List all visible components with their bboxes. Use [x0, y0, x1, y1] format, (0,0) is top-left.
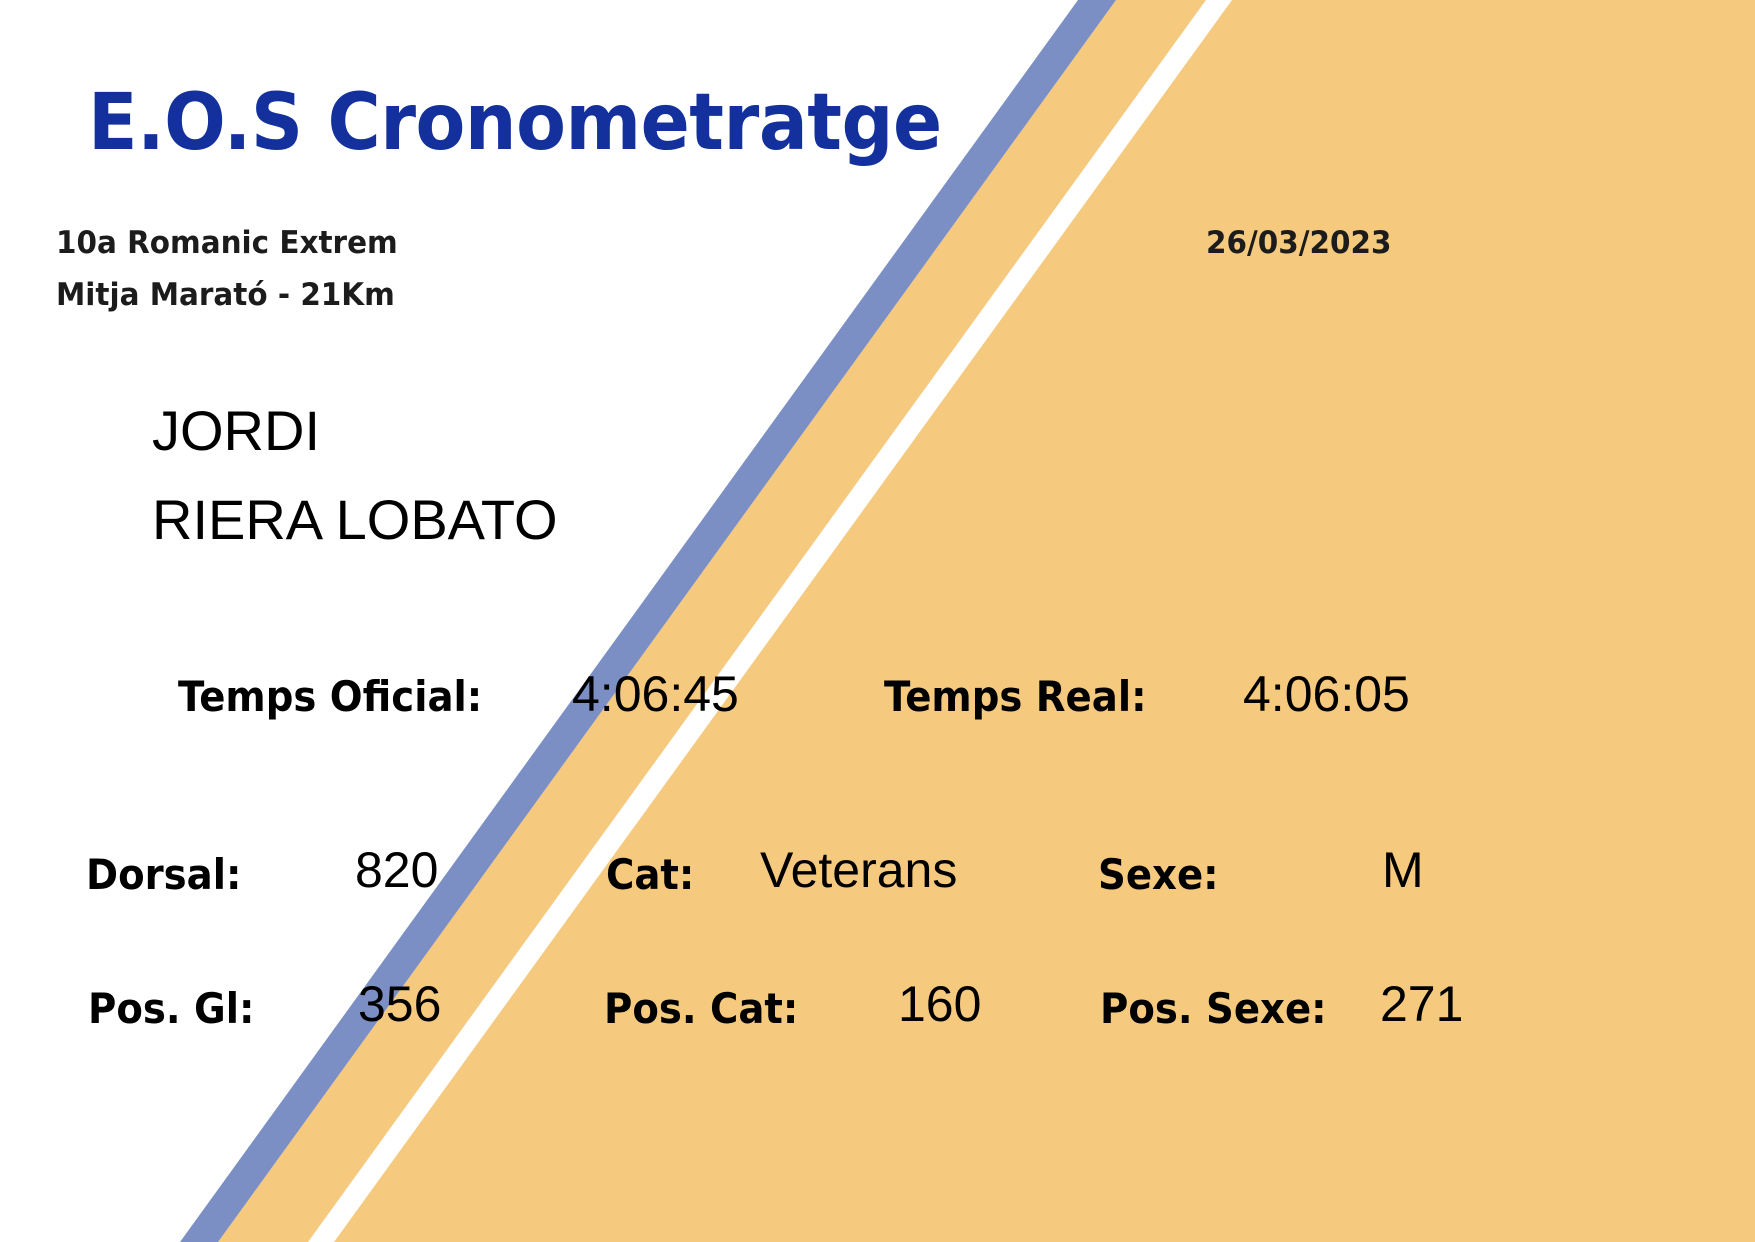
real-time-label: Temps Real:: [884, 672, 1147, 721]
race-result-certificate: E.O.S Cronometratge 10a Romanic Extrem M…: [0, 0, 1755, 1242]
category-value: Veterans: [760, 841, 957, 899]
sex-value: M: [1382, 841, 1424, 899]
event-distance: Mitja Marató - 21Km: [56, 277, 395, 313]
category-label: Cat:: [606, 850, 694, 899]
runner-last-name: RIERA LOBATO: [152, 487, 558, 552]
certificate-content: E.O.S Cronometratge 10a Romanic Extrem M…: [0, 0, 1755, 1242]
category-position-label: Pos. Cat:: [604, 984, 798, 1033]
real-time-value: 4:06:05: [1243, 665, 1410, 723]
official-time-value: 4:06:45: [572, 665, 739, 723]
event-name: 10a Romanic Extrem: [56, 225, 398, 261]
overall-position-value: 356: [358, 975, 441, 1033]
sex-label: Sexe:: [1098, 850, 1219, 899]
event-date: 26/03/2023: [1206, 225, 1391, 261]
dorsal-value: 820: [355, 841, 438, 899]
runner-first-name: JORDI: [152, 398, 320, 463]
sex-position-value: 271: [1380, 975, 1463, 1033]
dorsal-label: Dorsal:: [86, 850, 241, 899]
overall-position-label: Pos. Gl:: [88, 984, 254, 1033]
brand-title: E.O.S Cronometratge: [88, 78, 942, 168]
official-time-label: Temps Oficial:: [178, 672, 482, 721]
sex-position-label: Pos. Sexe:: [1100, 984, 1327, 1033]
category-position-value: 160: [898, 975, 981, 1033]
